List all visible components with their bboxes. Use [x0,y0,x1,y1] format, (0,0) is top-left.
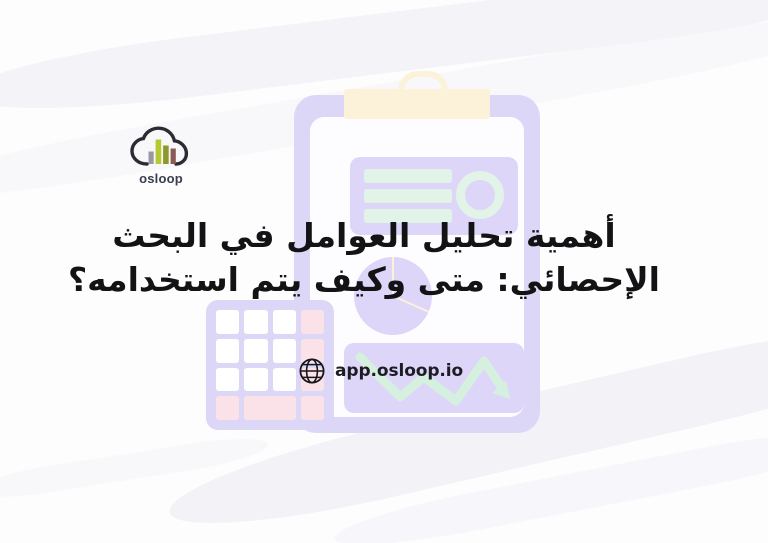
calculator-key [273,310,296,334]
calculator-key [244,368,267,392]
calculator-key-accent-wide [244,396,296,420]
calculator-key [273,368,296,392]
calculator-key-accent [216,396,239,420]
clipboard-hanger-icon [398,71,448,101]
calculator-key [216,310,239,334]
slide-canvas: osloop أهمية تحليل العوامل في البحث الإح… [0,0,768,543]
calculator-key [244,339,267,363]
calculator-key-accent [301,396,324,420]
globe-icon [298,357,326,385]
report-bar-2 [364,189,452,203]
page-title: أهمية تحليل العوامل في البحث الإحصائي: م… [64,214,664,301]
cloud-bar-chart-icon [129,126,193,170]
calculator-key [216,339,239,363]
donut-chart-icon [456,171,504,219]
report-bar-1 [364,169,452,183]
site-url-badge[interactable]: app.osloop.io [298,357,463,385]
calculator-key-accent [301,310,324,334]
calculator-key [273,339,296,363]
calculator-key [244,310,267,334]
site-url-text: app.osloop.io [335,361,463,381]
calculator-key [216,368,239,392]
osloop-wordmark: osloop [139,171,183,186]
osloop-logo: osloop [126,126,196,186]
